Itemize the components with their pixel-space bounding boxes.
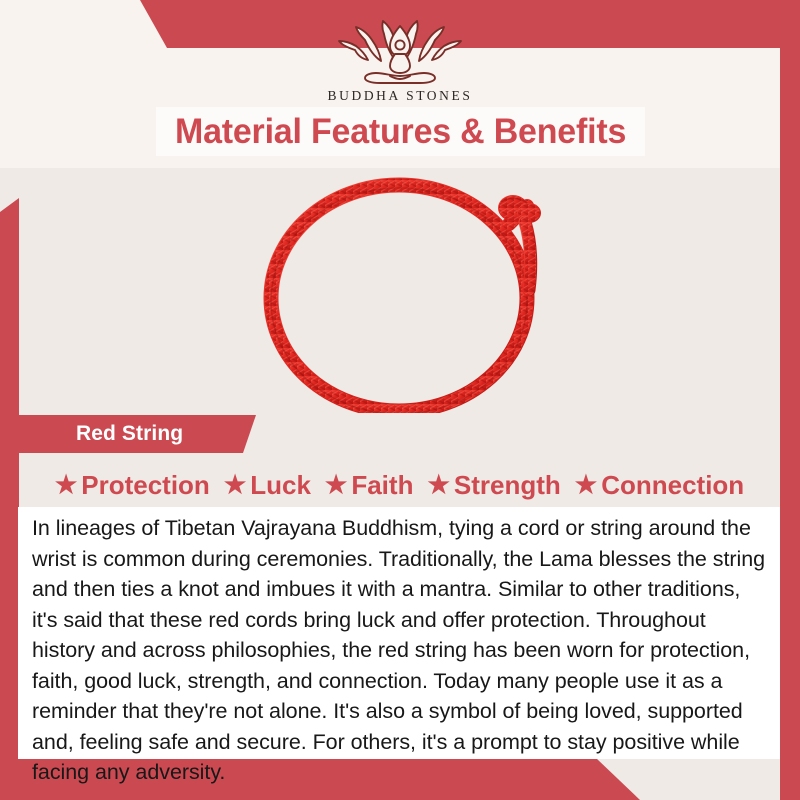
star-icon: ★	[427, 473, 449, 498]
benefit-label: Strength	[454, 470, 561, 501]
star-icon: ★	[55, 473, 77, 498]
lotus-meditation-figure-icon	[332, 20, 468, 86]
benefit-label: Faith	[351, 470, 413, 501]
product-photo	[19, 168, 780, 413]
material-label-banner: Red String	[18, 415, 256, 453]
star-icon: ★	[325, 473, 347, 498]
benefit-item: ★ Faith	[318, 470, 421, 501]
title-banner: Material Features & Benefits	[156, 107, 645, 156]
description-block: In lineages of Tibetan Vajrayana Buddhis…	[18, 507, 780, 759]
right-red-strip-decoration	[780, 42, 800, 800]
benefits-row: ★ Protection ★ Luck ★ Faith ★ Strength ★…	[19, 468, 780, 502]
benefit-item: ★ Connection	[568, 470, 751, 501]
infographic-card: BUDDHA STONES Material Features & Benefi…	[0, 0, 800, 800]
page-title: Material Features & Benefits	[175, 112, 626, 152]
brand-logo: BUDDHA STONES	[0, 20, 800, 104]
star-icon: ★	[575, 473, 597, 498]
benefit-item: ★ Protection	[48, 470, 217, 501]
benefit-label: Luck	[250, 470, 311, 501]
benefit-label: Connection	[601, 470, 744, 501]
description-paragraph: In lineages of Tibetan Vajrayana Buddhis…	[32, 513, 766, 788]
benefit-label: Protection	[81, 470, 210, 501]
benefit-item: ★ Luck	[217, 470, 318, 501]
benefit-item: ★ Strength	[420, 470, 567, 501]
material-label: Red String	[76, 422, 183, 446]
brand-wordmark: BUDDHA STONES	[0, 88, 800, 104]
red-braided-string-bracelet-image	[241, 168, 571, 413]
star-icon: ★	[224, 473, 246, 498]
left-red-strip-decoration	[0, 198, 19, 800]
